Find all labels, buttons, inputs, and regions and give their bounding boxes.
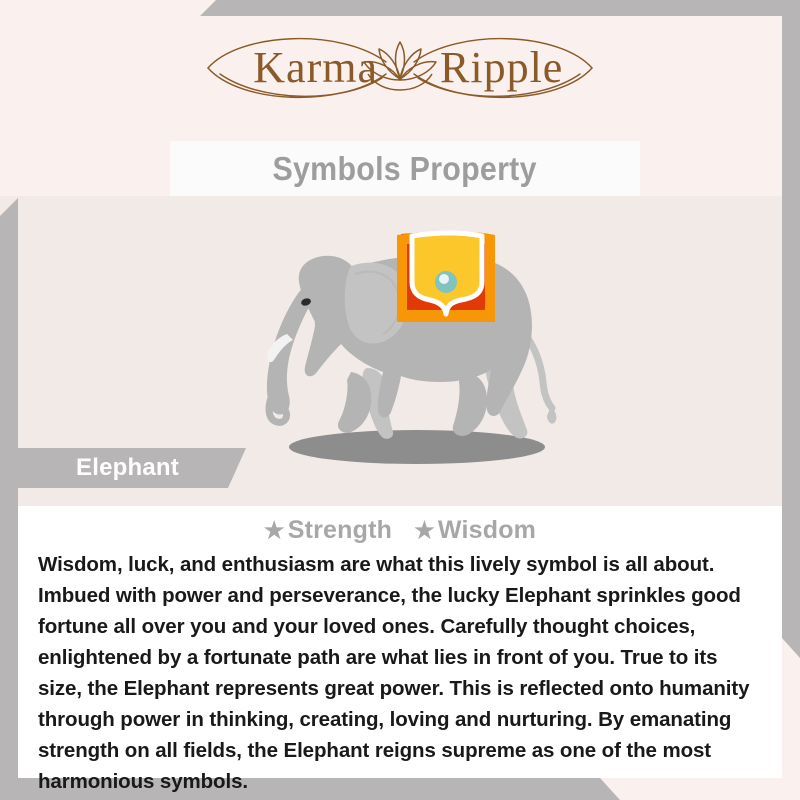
page-title-band: Symbols Property (170, 141, 640, 196)
logo-flourish-icon: Karma Ripple (190, 22, 610, 114)
description-text: Wisdom, luck, and enthusiasm are what th… (38, 549, 762, 797)
trait-list: ★Strength★Wisdom (18, 516, 782, 545)
page-title: Symbols Property (273, 150, 537, 188)
brand-name-left: Karma (253, 43, 378, 92)
elephant-shadow (289, 430, 545, 464)
symbol-name: Elephant (76, 454, 179, 482)
brand-logo: Karma Ripple (0, 22, 800, 114)
elephant-icon (255, 222, 585, 484)
symbol-card: Karma Ripple Symbols Property (0, 0, 800, 800)
brand-name-right: Ripple (440, 43, 563, 92)
elephant-illustration (255, 222, 585, 484)
star-icon: ★ (414, 517, 435, 543)
trait-wisdom: Wisdom (438, 516, 536, 544)
description-panel: ★Strength★Wisdom Wisdom, luck, and enthu… (18, 506, 782, 778)
frame-accent-left (0, 198, 18, 784)
trait-strength: Strength (288, 516, 392, 544)
star-icon: ★ (264, 517, 285, 543)
symbol-name-banner: Elephant (18, 448, 246, 488)
